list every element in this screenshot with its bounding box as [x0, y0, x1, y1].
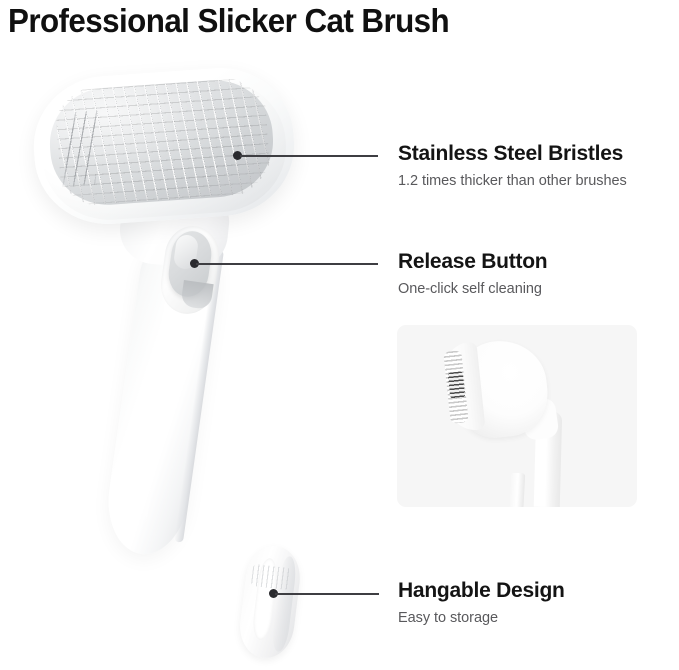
inset-bristle-holes: [448, 371, 466, 398]
callout-heading: Stainless Steel Bristles: [398, 141, 627, 167]
product-infographic: Professional Slicker Cat Brush: [0, 0, 679, 670]
bristle-pad-slots: [59, 110, 100, 187]
callout-heading: Hangable Design: [398, 578, 565, 604]
callout-subtext: One-click self cleaning: [398, 278, 547, 300]
callout-subtext: Easy to storage: [398, 607, 565, 629]
callout-subtext: 1.2 times thicker than other brushes: [398, 170, 627, 192]
inset-image-card: [397, 325, 637, 507]
callout-hangable-design: Hangable Design Easy to storage: [398, 578, 565, 629]
product-illustration: [0, 0, 400, 670]
leader-line-hangable: [275, 593, 379, 595]
inset-hook: [509, 473, 525, 507]
callout-stainless-steel-bristles: Stainless Steel Bristles 1.2 times thick…: [398, 141, 627, 192]
callout-heading: Release Button: [398, 249, 547, 275]
hanging-loop-texture: [251, 564, 291, 590]
callout-release-button: Release Button One-click self cleaning: [398, 249, 547, 300]
leader-line-release-button: [196, 263, 378, 265]
leader-line-bristles: [240, 155, 378, 157]
